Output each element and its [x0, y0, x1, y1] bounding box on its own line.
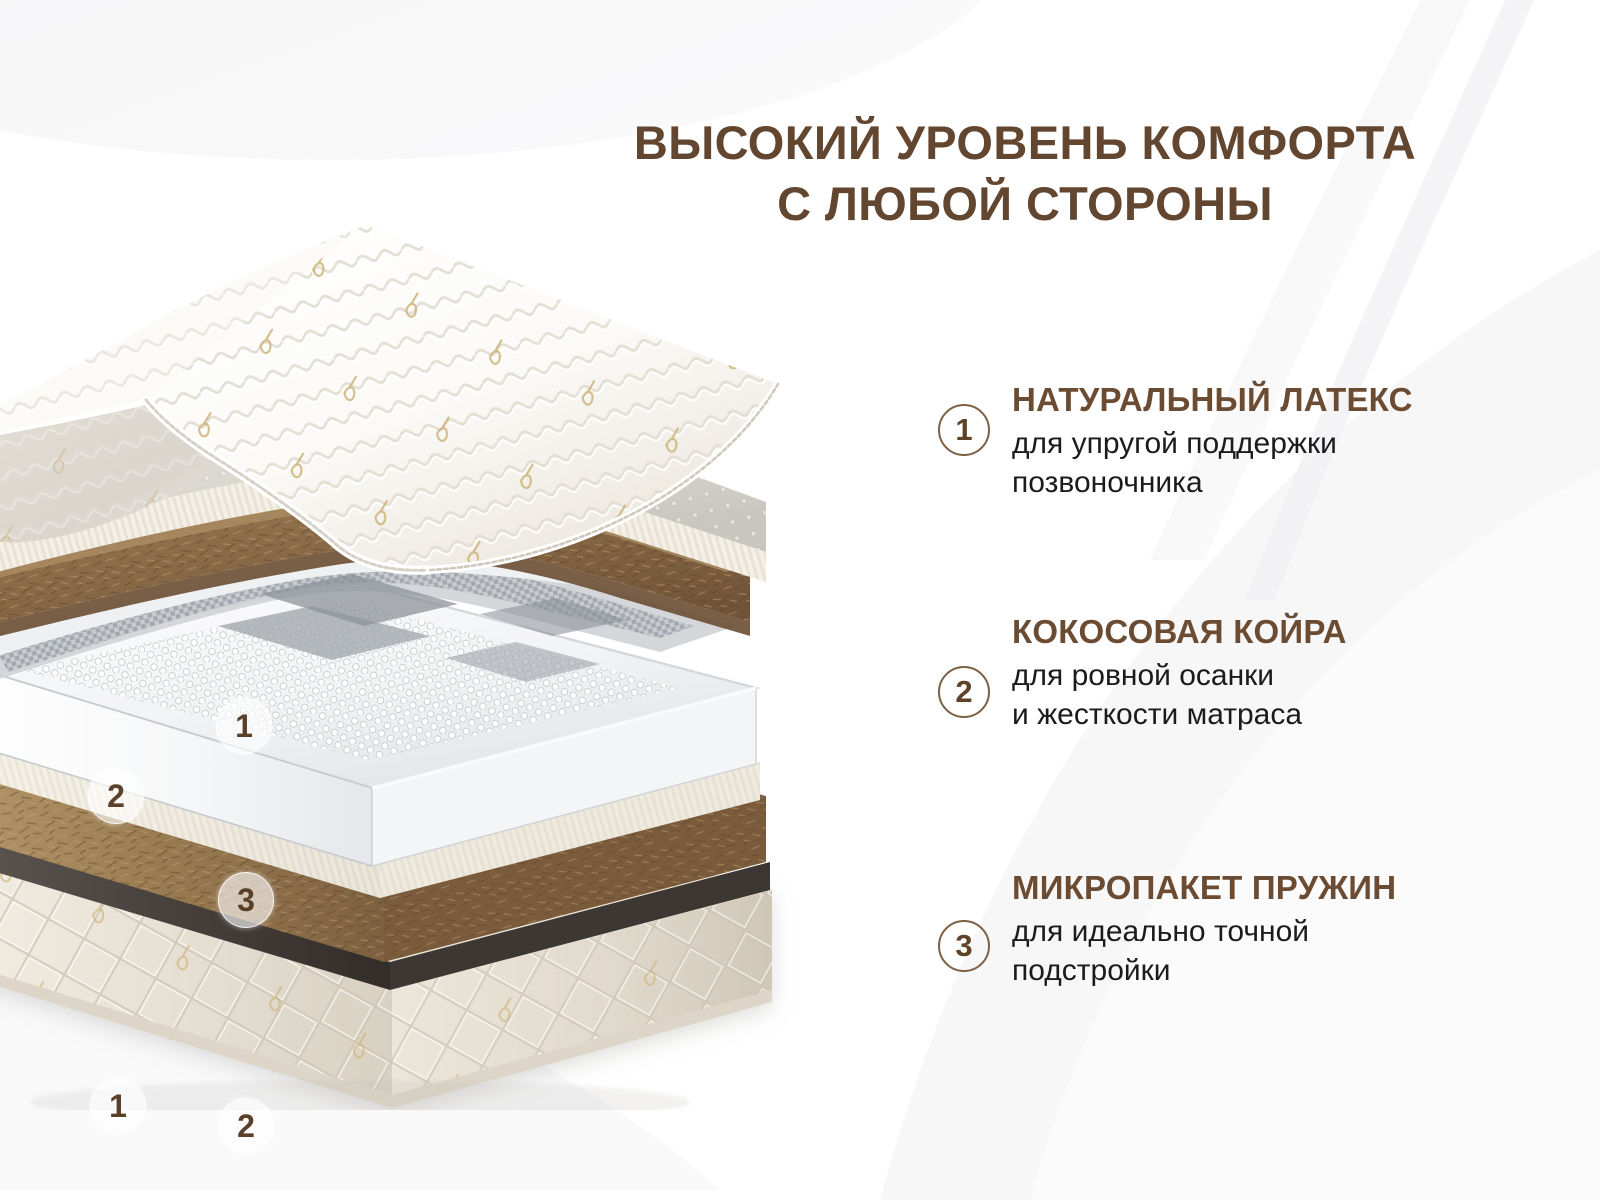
legend-text-1: НАТУРАЛЬНЫЙ ЛАТЕКС для упругой поддержки… — [1012, 382, 1413, 502]
legend-badge-2: 2 — [938, 666, 990, 718]
legend-description-springs: для идеально точной подстройки — [1012, 912, 1396, 990]
legend-heading-springs: МИКРОПАКЕТ ПРУЖИН — [1012, 870, 1396, 907]
legend-item-latex[interactable]: 1 НАТУРАЛЬНЫЙ ЛАТЕКС для упругой поддерж… — [938, 382, 1413, 502]
illustration-marker-1-bottom-latex[interactable]: 1 — [90, 1078, 146, 1134]
legend-badge-1: 1 — [938, 404, 990, 456]
decor-band-2 — [1245, 0, 1534, 600]
mattress-cutaway-illustration: 1 2 3 1 2 — [0, 190, 840, 1110]
illustration-marker-2-bottom-coir[interactable]: 2 — [218, 1098, 274, 1154]
legend-text-2: КОКОСОВАЯ КОЙРА для ровной осанки и жест… — [1012, 614, 1347, 734]
title-line-2: С ЛЮБОЙ СТОРОНЫ — [520, 173, 1530, 234]
infographic-canvas: ВЫСОКИЙ УРОВЕНЬ КОМФОРТА С ЛЮБОЙ СТОРОНЫ — [0, 0, 1600, 1200]
legend-badge-3: 3 — [938, 920, 990, 972]
mattress-svg — [0, 190, 840, 1110]
legend-description-coir: для ровной осанки и жесткости матраса — [1012, 656, 1347, 734]
title-line-1: ВЫСОКИЙ УРОВЕНЬ КОМФОРТА — [520, 112, 1530, 173]
legend-description-latex: для упругой поддержки позвоночника — [1012, 424, 1413, 502]
legend-heading-latex: НАТУРАЛЬНЫЙ ЛАТЕКС — [1012, 382, 1413, 419]
decor-arc-right-2 — [1030, 470, 1600, 1200]
illustration-marker-3-spring-block[interactable]: 3 — [218, 872, 274, 928]
legend-heading-coir: КОКОСОВАЯ КОЙРА — [1012, 614, 1347, 651]
legend-item-springs[interactable]: 3 МИКРОПАКЕТ ПРУЖИН для идеально точной … — [938, 870, 1396, 990]
legend-text-3: МИКРОПАКЕТ ПРУЖИН для идеально точной по… — [1012, 870, 1396, 990]
illustration-marker-1-top-latex[interactable]: 1 — [216, 698, 272, 754]
illustration-marker-2-top-coir[interactable]: 2 — [88, 768, 144, 824]
legend-item-coir[interactable]: 2 КОКОСОВАЯ КОЙРА для ровной осанки и же… — [938, 614, 1347, 734]
page-title: ВЫСОКИЙ УРОВЕНЬ КОМФОРТА С ЛЮБОЙ СТОРОНЫ — [520, 112, 1530, 234]
